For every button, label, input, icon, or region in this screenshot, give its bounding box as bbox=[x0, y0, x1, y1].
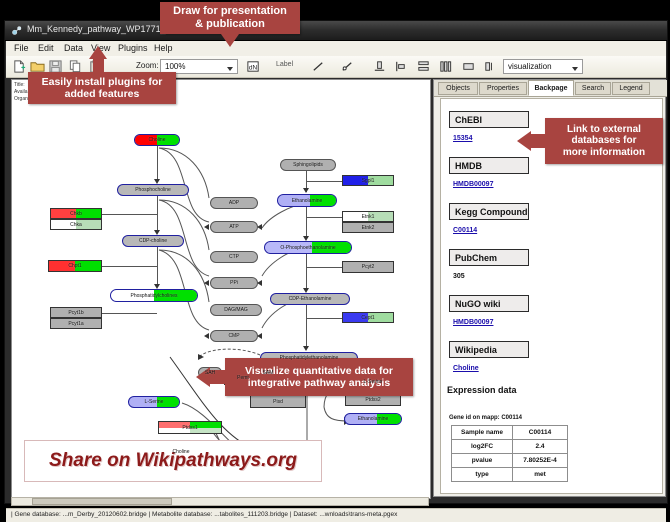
zoom-value: 100% bbox=[165, 62, 185, 71]
edge-chpt1-to-backbone bbox=[102, 266, 157, 267]
cell-label: pvalue bbox=[452, 454, 513, 468]
share-banner: Share on Wikipathways.org bbox=[24, 440, 322, 482]
callout-draw-pointer bbox=[221, 34, 239, 47]
tab-backpage[interactable]: Backpage bbox=[528, 80, 574, 96]
node-label: Ethanolamine bbox=[358, 416, 389, 422]
db-header-wikipedia: Wikipedia bbox=[449, 341, 529, 358]
db-header-hmdb: HMDB bbox=[449, 157, 529, 174]
node-label: PPi bbox=[230, 280, 238, 286]
node-ethanolamine[interactable]: Ethanolamine bbox=[277, 194, 337, 207]
callout-link-pointer bbox=[517, 131, 531, 151]
pathvisio-icon bbox=[11, 25, 22, 36]
chevron-down-icon bbox=[572, 67, 578, 71]
menu-edit[interactable]: Edit bbox=[38, 43, 54, 53]
callout-draw-line1: Draw for presentation bbox=[173, 5, 287, 18]
node-label: SAM bbox=[263, 370, 274, 376]
size-icon[interactable] bbox=[461, 59, 476, 74]
gene-sgpl1[interactable]: Sgpl1 bbox=[342, 175, 394, 186]
gene-etnk2[interactable]: Etnk2 bbox=[342, 222, 394, 233]
node-ppi[interactable]: PPi bbox=[210, 277, 258, 289]
cell-value: met bbox=[513, 468, 568, 482]
db-header-pubchem: PubChem bbox=[449, 249, 529, 266]
cell-label: type bbox=[452, 468, 513, 482]
callout-plugins-pointer bbox=[89, 46, 107, 59]
chevron-down-icon bbox=[227, 67, 233, 71]
node-cdp-choline[interactable]: CDP-choline bbox=[122, 235, 184, 247]
gene-label: Etnk2 bbox=[362, 225, 375, 231]
gene-label: Chkb bbox=[70, 211, 82, 217]
table-row: type met bbox=[452, 468, 568, 482]
cell-label: log2FC bbox=[452, 440, 513, 454]
db-link-nugo[interactable]: HMDB00097 bbox=[453, 319, 493, 326]
node-label: CDP-choline bbox=[139, 238, 167, 244]
gene-chkb[interactable]: Chkb bbox=[50, 208, 102, 219]
gene-label: Pemt bbox=[237, 375, 249, 381]
node-ctp[interactable]: CTP bbox=[210, 251, 258, 263]
statusbar-text: | Gene database: ...m_Derby_20120602.bri… bbox=[11, 511, 397, 518]
db-link-kegg[interactable]: C00114 bbox=[453, 227, 477, 234]
node-label: L-Serine bbox=[145, 399, 164, 405]
window-titlebar: Mm_Kennedy_pathway_WP1771_45176.gpml bbox=[5, 21, 667, 41]
gene-pcyt2[interactable]: Pcyt2 bbox=[342, 261, 394, 273]
gene-label: Etnk1 bbox=[362, 214, 375, 220]
arrow-icon bbox=[303, 188, 309, 193]
gene-label: Sgpl1 bbox=[362, 178, 375, 184]
new-file-icon[interactable] bbox=[12, 59, 27, 74]
node-atp[interactable]: ATP bbox=[210, 221, 258, 233]
table-row: log2FC 2.4 bbox=[452, 440, 568, 454]
gene-chka[interactable]: Chka bbox=[50, 219, 102, 230]
gene-label: Chpt1 bbox=[68, 263, 81, 269]
menu-plugins[interactable]: Plugins bbox=[118, 43, 148, 53]
line-icon[interactable] bbox=[311, 59, 326, 74]
distribute-icon[interactable] bbox=[438, 59, 453, 74]
node-label: Choline bbox=[173, 449, 190, 455]
gene-etnk1[interactable]: Etnk1 bbox=[342, 211, 394, 222]
cell-value: 2.4 bbox=[513, 440, 568, 454]
node-label: ATP bbox=[229, 224, 238, 230]
gene-pcyt1a[interactable]: Pcyt1a bbox=[50, 318, 102, 329]
callout-draw-line2: & publication bbox=[195, 18, 265, 31]
node-label: Choline bbox=[149, 137, 166, 143]
gene-label: Pisd bbox=[273, 399, 283, 405]
menu-file[interactable]: File bbox=[14, 43, 29, 53]
node-label: Phosphatidylethanolamine bbox=[280, 355, 339, 361]
callout-link-stem bbox=[531, 134, 547, 148]
arrow-icon bbox=[204, 224, 209, 230]
callout-plugins-stem bbox=[93, 58, 104, 73]
node-choline-top[interactable]: Choline bbox=[134, 134, 180, 146]
arrow-icon bbox=[204, 280, 209, 286]
expression-table: Sample name C00114 log2FC 2.4 pvalue 7.8… bbox=[451, 425, 568, 482]
gene-id-line: Gene id on mapp: C00114 bbox=[449, 415, 522, 421]
callout-visualize: Visualize quantitative data for integrat… bbox=[225, 358, 413, 396]
cell-value: C00114 bbox=[513, 426, 568, 440]
node-label: ADP bbox=[229, 200, 239, 206]
db-value-pubchem: 305 bbox=[453, 273, 465, 280]
align-top-icon[interactable] bbox=[372, 59, 387, 74]
node-label: Phosphocholine bbox=[135, 187, 171, 193]
edge-pcyt1-to-backbone bbox=[102, 313, 157, 314]
cell-value: 7.80252E-4 bbox=[513, 454, 568, 468]
node-adp[interactable]: ADP bbox=[210, 197, 258, 209]
edge-etnk bbox=[306, 217, 346, 218]
gene-cept1[interactable]: Cept1 bbox=[342, 312, 394, 323]
arrow-icon bbox=[204, 333, 209, 339]
gene-chpt1[interactable]: Chpt1 bbox=[48, 260, 102, 272]
node-label: Sphingolipids bbox=[293, 162, 323, 168]
label-tool-label[interactable]: Label bbox=[276, 61, 293, 68]
db-link-hmdb[interactable]: HMDB00097 bbox=[453, 181, 493, 188]
zoom-label: Zoom: bbox=[136, 61, 159, 70]
visualization-combo[interactable]: visualization bbox=[503, 59, 583, 74]
node-label: Phosphatidylcholines bbox=[131, 293, 178, 299]
callout-draw: Draw for presentation & publication bbox=[160, 2, 300, 34]
callout-plugins-line1: Easily install plugins for bbox=[42, 76, 163, 88]
order-icon[interactable] bbox=[483, 59, 498, 74]
node-label: CDP-Ethanolamine bbox=[289, 296, 332, 302]
node-label: CMP bbox=[228, 333, 239, 339]
db-header-nugo: NuGO wiki bbox=[449, 295, 529, 312]
gene-label: Ptdss2 bbox=[365, 397, 380, 403]
visualization-value: visualization bbox=[508, 62, 552, 71]
cofactor-curves-right bbox=[260, 198, 310, 348]
canvas-hscrollbar[interactable] bbox=[11, 497, 429, 506]
callout-link-line1: Link to external bbox=[567, 124, 641, 136]
edge-pcyt2 bbox=[306, 267, 346, 268]
node-phosphocholine[interactable]: Phosphocholine bbox=[117, 184, 189, 196]
gene-pcyt1b[interactable]: Pcyt1b bbox=[50, 307, 102, 318]
node-label: L-Serine bbox=[364, 379, 383, 385]
tab-properties[interactable]: Properties bbox=[479, 82, 527, 95]
screenshot-root: Mm_Kennedy_pathway_WP1771_45176.gpml Fil… bbox=[0, 0, 670, 509]
edge-chk-to-backbone bbox=[102, 214, 157, 215]
callout-link-line2: databases for bbox=[571, 135, 636, 147]
db-link-wikipedia[interactable]: Choline bbox=[453, 365, 479, 372]
db-header-chebi: ChEBI bbox=[449, 111, 529, 128]
svg-text:dN: dN bbox=[249, 64, 258, 71]
gene-ptdss1[interactable]: Ptdss1 bbox=[158, 421, 222, 434]
meta-organism: Organi bbox=[14, 96, 29, 103]
tab-search[interactable]: Search bbox=[575, 82, 611, 95]
callout-link: Link to external databases for more info… bbox=[545, 118, 663, 164]
db-header-kegg: Kegg Compound bbox=[449, 203, 529, 220]
node-l-serine-left[interactable]: L-Serine bbox=[128, 396, 180, 408]
node-ethanolamine-right[interactable]: Ethanolamine bbox=[344, 413, 402, 425]
meta-availability: Availa bbox=[14, 89, 29, 96]
table-row: pvalue 7.80252E-4 bbox=[452, 454, 568, 468]
callout-link-line3: more information bbox=[563, 147, 645, 159]
callout-plugins-line2: added features bbox=[65, 88, 140, 100]
canvas-meta: Title: Availa Organi bbox=[14, 82, 29, 103]
menu-help[interactable]: Help bbox=[154, 43, 173, 53]
gene-label: Pcyt2 bbox=[362, 264, 375, 270]
gene-label: Ptdss1 bbox=[182, 425, 197, 431]
node-sphingolipids[interactable]: Sphingolipids bbox=[280, 159, 336, 171]
node-o-phosphoethanolamine[interactable]: O-Phosphoethanolamine bbox=[264, 241, 352, 254]
node-dag-mag[interactable]: DAG/MAG bbox=[210, 304, 262, 316]
meta-title: Title: bbox=[14, 82, 29, 89]
gene-label: Chka bbox=[70, 222, 82, 228]
edge-cept1 bbox=[306, 318, 346, 319]
node-phosphatidylcholines[interactable]: Phosphatidylcholines bbox=[110, 289, 198, 302]
expression-data-heading: Expression data bbox=[447, 385, 517, 395]
anchor-icon[interactable] bbox=[340, 59, 355, 74]
edge-sgpl1 bbox=[306, 181, 346, 182]
menu-data[interactable]: Data bbox=[64, 43, 83, 53]
node-label: O-Phosphoethanolamine bbox=[280, 245, 335, 251]
stack-icon[interactable] bbox=[416, 59, 431, 74]
gene-label: Pcyt1a bbox=[68, 321, 83, 327]
callout-plugins: Easily install plugins for added feature… bbox=[28, 72, 176, 104]
datanode-icon[interactable]: dN bbox=[246, 59, 261, 74]
node-cmp[interactable]: CMP bbox=[210, 330, 258, 342]
scrollbar-thumb[interactable] bbox=[32, 498, 172, 505]
node-label: Ethanolamine bbox=[292, 198, 323, 204]
node-label: CTP bbox=[229, 254, 239, 260]
node-label: DAG/MAG bbox=[224, 307, 248, 313]
tab-objects[interactable]: Objects bbox=[438, 82, 478, 95]
tab-legend[interactable]: Legend bbox=[612, 82, 650, 95]
node-cdp-ethanolamine[interactable]: CDP-Ethanolamine bbox=[270, 293, 350, 305]
node-label: SAH bbox=[205, 370, 215, 376]
gene-pisd[interactable]: Pisd bbox=[250, 395, 306, 408]
pathway-canvas[interactable]: Title: Availa Organi bbox=[11, 79, 431, 499]
side-panel-tabs: Objects Properties Backpage Search Legen… bbox=[434, 80, 667, 97]
gene-label: Cept1 bbox=[361, 315, 374, 321]
statusbar: | Gene database: ...m_Derby_20120602.bri… bbox=[6, 508, 666, 522]
db-link-chebi[interactable]: 15354 bbox=[453, 135, 472, 142]
gene-label: Pcyt1b bbox=[68, 310, 83, 316]
table-row: Sample name C00114 bbox=[452, 426, 568, 440]
cell-label: Sample name bbox=[452, 426, 513, 440]
align-left-icon[interactable] bbox=[393, 59, 408, 74]
